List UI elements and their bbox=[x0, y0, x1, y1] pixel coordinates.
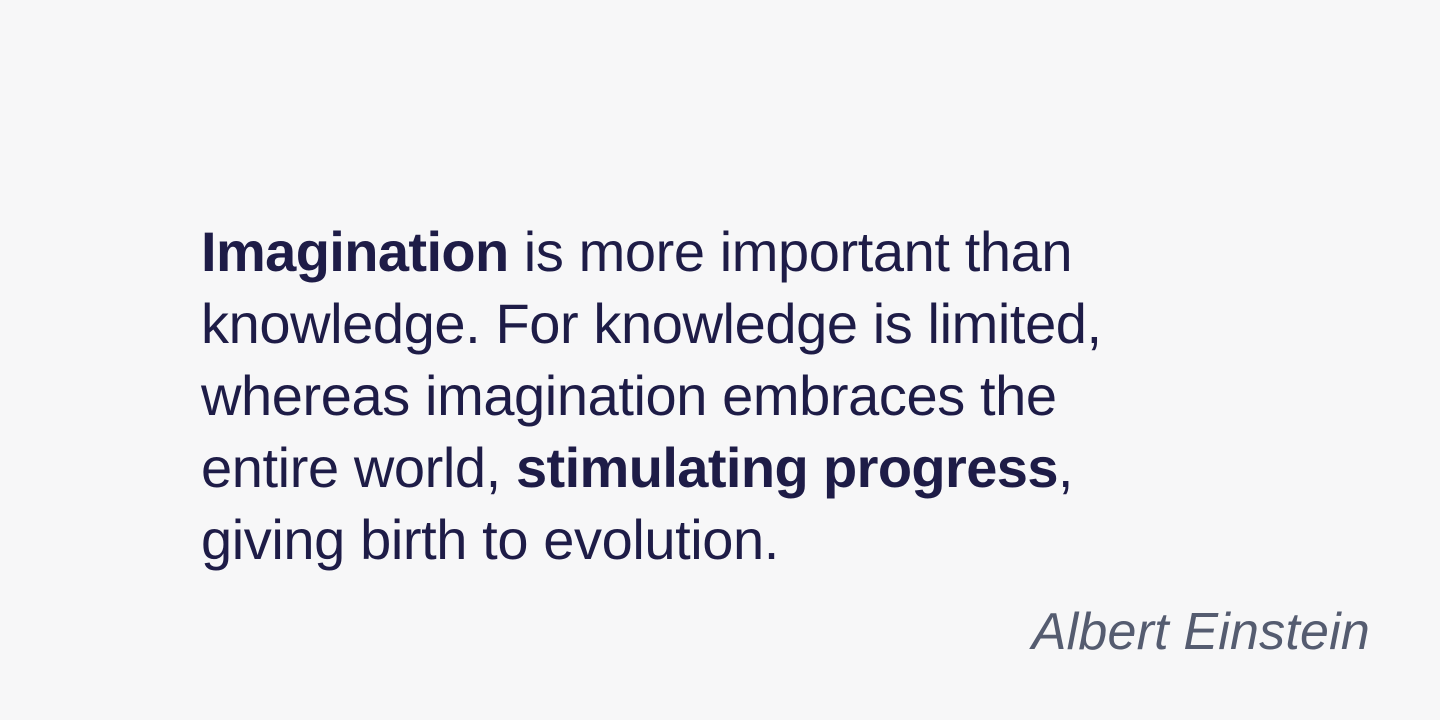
quote-segment: knowledge. For knowledge is limited, bbox=[201, 292, 1102, 355]
quote-segment: giving birth to evolution. bbox=[201, 508, 779, 571]
quote-text: Imagination is more important thanknowle… bbox=[201, 216, 1351, 576]
quote-segment: is more important than bbox=[509, 220, 1073, 283]
quote-line: knowledge. For knowledge is limited, bbox=[201, 288, 1351, 360]
quote-line: giving birth to evolution. bbox=[201, 504, 1351, 576]
quote-card: Imagination is more important thanknowle… bbox=[0, 0, 1440, 720]
quote-emphasis: stimulating progress bbox=[516, 436, 1058, 499]
quote-line: whereas imagination embraces the bbox=[201, 360, 1351, 432]
quote-line: Imagination is more important than bbox=[201, 216, 1351, 288]
quote-segment: entire world, bbox=[201, 436, 516, 499]
quote-segment: , bbox=[1058, 436, 1073, 499]
quote-emphasis: Imagination bbox=[201, 220, 509, 283]
quote-attribution: Albert Einstein bbox=[1032, 598, 1370, 666]
quote-line: entire world, stimulating progress, bbox=[201, 432, 1351, 504]
quote-segment: whereas imagination embraces the bbox=[201, 364, 1057, 427]
